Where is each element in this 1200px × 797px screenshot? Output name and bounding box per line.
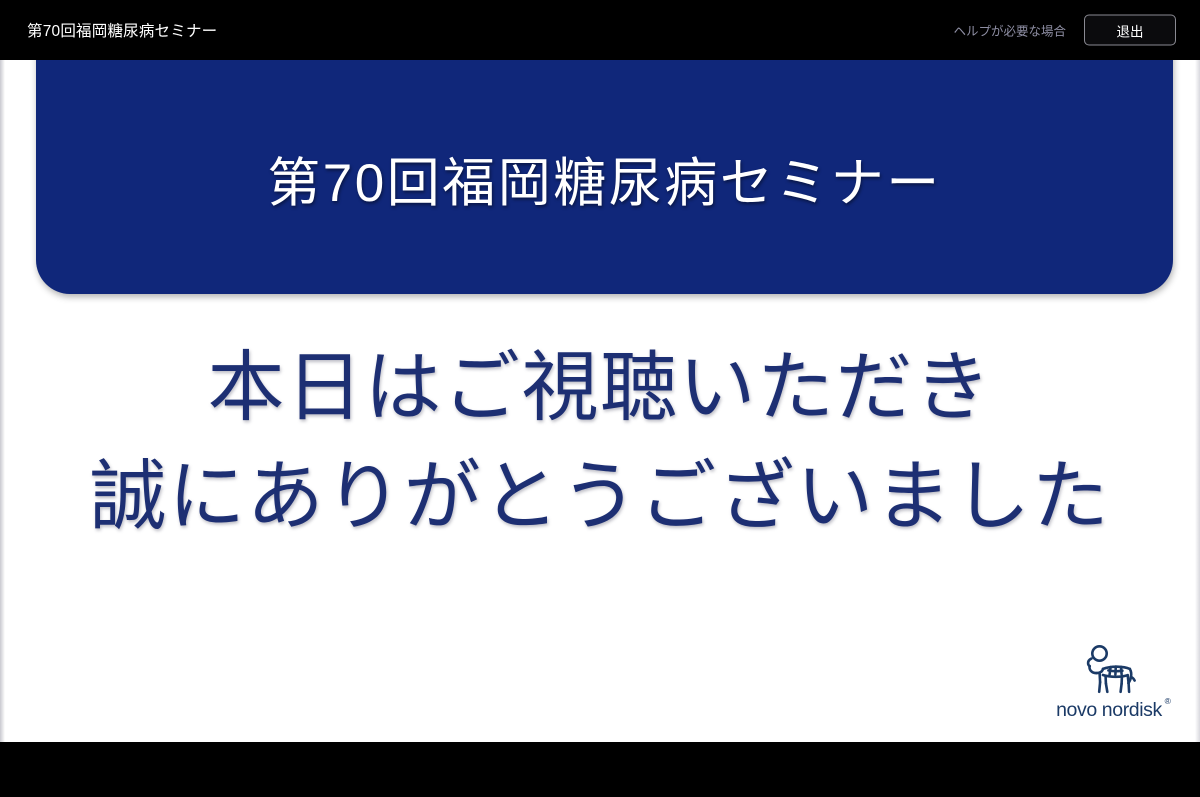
message-line-2: 誠にありがとうございました: [0, 443, 1200, 552]
help-link[interactable]: ヘルプが必要な場合: [953, 21, 1066, 40]
slide-title-banner: 第70回福岡糖尿病セミナー: [36, 58, 1173, 294]
slide-stage[interactable]: 第70回福岡糖尿病セミナー 本日はご視聴いただき 誠にありがとうございました: [0, 58, 1200, 742]
bottom-letterbox: [0, 742, 1200, 797]
slide-banner-title: 第70回福岡糖尿病セミナー: [267, 141, 941, 217]
novo-nordisk-logo: novo nordisk ®: [1045, 644, 1173, 721]
message-line-1: 本日はご視聴いただき: [0, 334, 1200, 443]
novo-nordisk-apis-bull-icon: [1077, 644, 1141, 700]
exit-button[interactable]: 退出: [1084, 15, 1176, 46]
logo-wordmark-text: novo nordisk: [1056, 699, 1162, 721]
registered-trademark-icon: ®: [1165, 697, 1171, 706]
webinar-viewer: 第70回福岡糖尿病セミナー ヘルプが必要な場合 退出 第70回福岡糖尿病セミナー…: [0, 0, 1200, 797]
thank-you-message: 本日はご視聴いただき 誠にありがとうございました: [0, 334, 1200, 553]
top-header-bar: 第70回福岡糖尿病セミナー ヘルプが必要な場合 退出: [0, 0, 1200, 60]
novo-nordisk-wordmark: novo nordisk ®: [1056, 701, 1162, 721]
webinar-title: 第70回福岡糖尿病セミナー: [27, 19, 217, 41]
header-actions: ヘルプが必要な場合 退出: [953, 15, 1176, 46]
